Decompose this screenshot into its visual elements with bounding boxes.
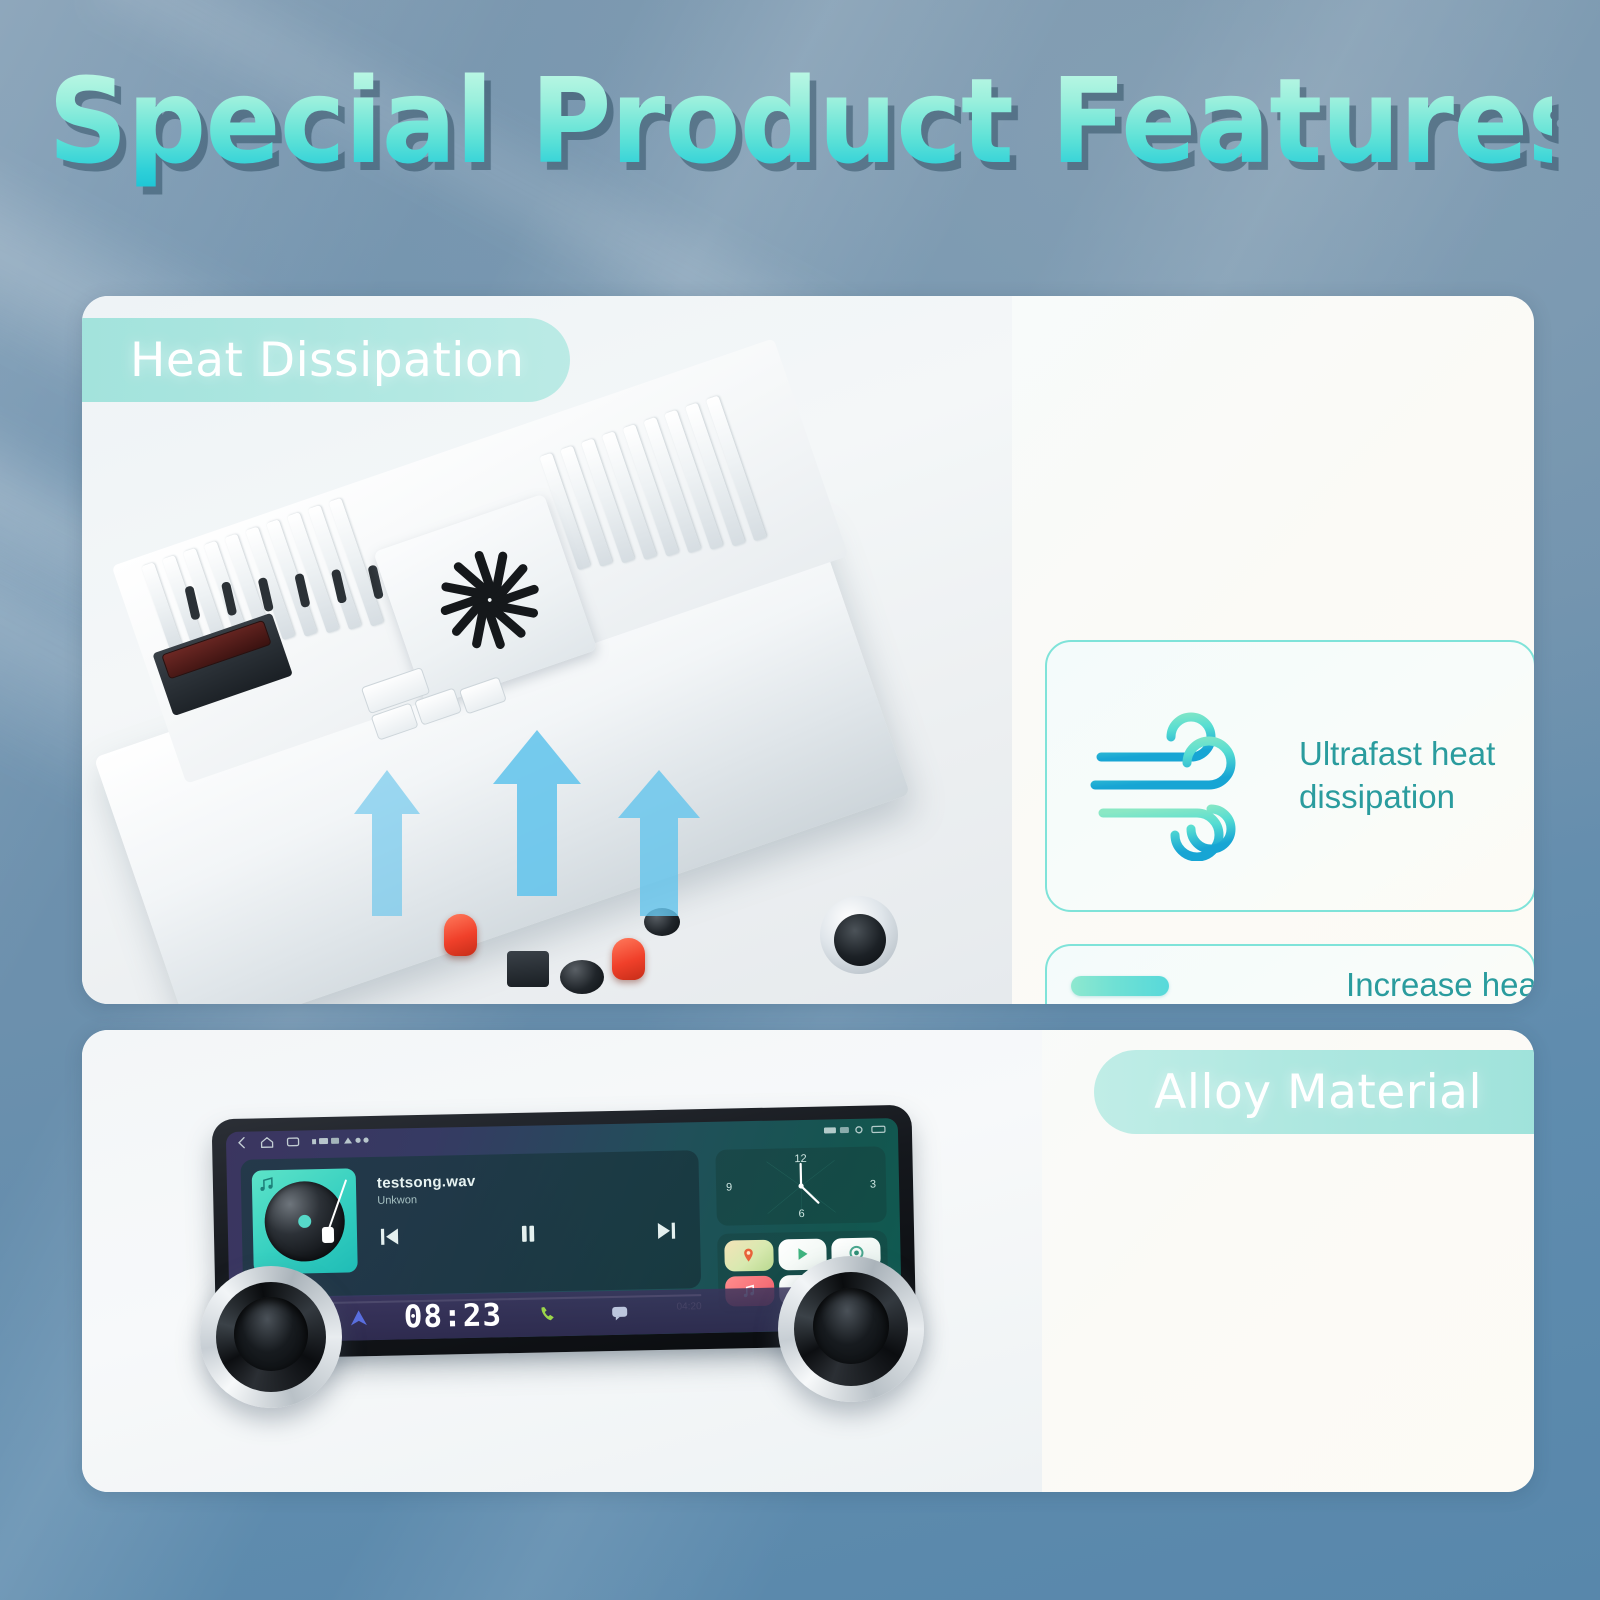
red-capacitor bbox=[612, 938, 645, 980]
maps-app[interactable] bbox=[724, 1240, 773, 1272]
airflow-arrow bbox=[344, 766, 430, 916]
previous-icon[interactable] bbox=[378, 1226, 402, 1246]
alloy-material-label-text: Alloy Material bbox=[1154, 1065, 1482, 1120]
transport-controls[interactable] bbox=[378, 1221, 678, 1247]
clock-hands-icon bbox=[760, 1150, 841, 1222]
next-icon[interactable] bbox=[654, 1221, 678, 1241]
clock-widget[interactable]: 12 3 6 9 bbox=[715, 1146, 887, 1226]
phone-icon[interactable] bbox=[538, 1304, 558, 1324]
heat-sink-photo bbox=[82, 296, 1012, 1004]
back-icon[interactable] bbox=[236, 1137, 248, 1149]
knob-well bbox=[813, 1288, 889, 1364]
maps-icon bbox=[741, 1247, 757, 1263]
red-capacitor bbox=[444, 914, 477, 956]
heat-dissipation-label: Heat Dissipation bbox=[82, 318, 570, 402]
system-status-icons bbox=[312, 1135, 384, 1147]
airflow-arrow bbox=[477, 726, 597, 896]
feature-ultrafast-heat-dissipation[interactable]: Ultrafast heat dissipation bbox=[1045, 640, 1534, 912]
clock-number-9: 9 bbox=[726, 1181, 732, 1193]
heat-dissipation-label-text: Heat Dissipation bbox=[130, 333, 524, 388]
page-title: Special Product Features bbox=[48, 52, 1552, 190]
recents-icon[interactable] bbox=[286, 1136, 300, 1148]
music-note-icon bbox=[259, 1176, 275, 1192]
track-artist: Unkwon bbox=[377, 1193, 476, 1207]
heatsink-fins bbox=[539, 395, 757, 570]
track-info: testsong.wav Unkwon bbox=[377, 1173, 476, 1207]
pause-icon[interactable] bbox=[517, 1224, 539, 1244]
wind-icon bbox=[1087, 691, 1277, 861]
tonearm-icon bbox=[310, 1176, 352, 1257]
volume-knob-left[interactable] bbox=[200, 1266, 342, 1408]
alloy-material-card: testsong.wav Unkwon bbox=[82, 1030, 1534, 1492]
airflow-arrow bbox=[604, 766, 714, 916]
clock-display: 08:23 bbox=[403, 1297, 502, 1335]
play-icon bbox=[794, 1246, 810, 1262]
knob-well bbox=[234, 1297, 308, 1371]
feature-capacity-50-text: Increase heat dissipation capacity by 50… bbox=[1141, 964, 1534, 1004]
round-port bbox=[560, 960, 604, 994]
message-icon[interactable] bbox=[610, 1303, 630, 1323]
media-player-card[interactable]: testsong.wav Unkwon bbox=[240, 1150, 701, 1298]
heat-dissipation-card: Heat Dissipation Ultrafast heat dissipat… bbox=[82, 296, 1534, 1004]
volume-knob-right[interactable] bbox=[778, 1256, 924, 1402]
stereo-photo: testsong.wav Unkwon bbox=[82, 1030, 1042, 1492]
right-status-icons bbox=[824, 1124, 888, 1135]
feature-increase-capacity-50[interactable]: Increase heat dissipation capacity by 50… bbox=[1045, 944, 1534, 1004]
alloy-material-label: Alloy Material bbox=[1094, 1050, 1534, 1134]
album-art bbox=[252, 1168, 358, 1274]
vinyl-center bbox=[298, 1215, 311, 1228]
chip bbox=[507, 951, 549, 987]
clock-number-3: 3 bbox=[870, 1178, 876, 1190]
volume-knob-face bbox=[834, 914, 886, 966]
track-name: testsong.wav bbox=[377, 1173, 476, 1192]
home-icon[interactable] bbox=[260, 1136, 274, 1148]
navigation-icon[interactable] bbox=[348, 1308, 370, 1328]
feature-ultrafast-text: Ultrafast heat dissipation bbox=[1299, 733, 1495, 819]
